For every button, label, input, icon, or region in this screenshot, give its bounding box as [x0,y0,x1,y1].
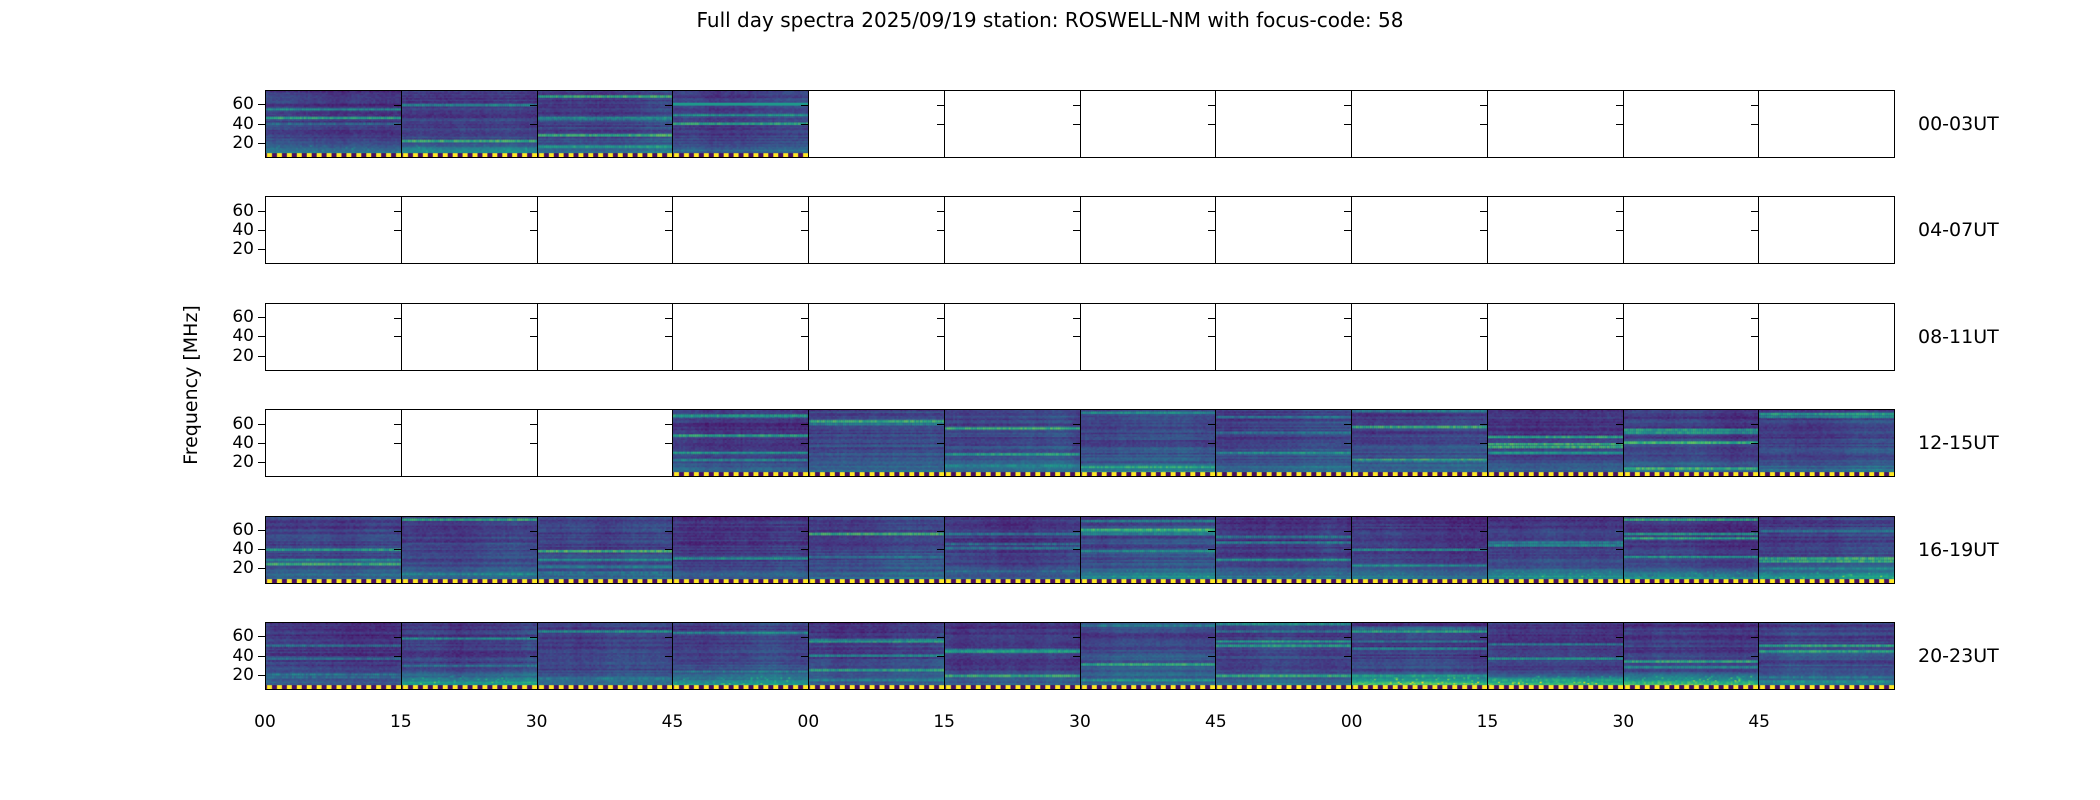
empty-cell [538,197,674,263]
y-tick-mark [1616,336,1623,337]
y-tick-label: 40 [232,433,254,453]
y-tick-mark [801,637,808,638]
y-tick-mark [1344,318,1351,319]
y-tick-mark [1073,656,1080,657]
y-tick-mark [937,424,944,425]
panel-cells [265,196,1895,264]
spectrogram-cell [402,623,538,689]
y-tick-mark [1480,230,1487,231]
y-tick-mark [937,105,944,106]
y-tick-mark [394,637,401,638]
spectrogram-cell [945,410,1081,476]
spectrogram-image [1081,623,1216,689]
spectrogram-image [1488,410,1623,476]
panel-cells [265,409,1895,477]
y-tick-mark [937,230,944,231]
panel-row: 204060 [265,622,1895,690]
y-tick-mark [1073,124,1080,125]
y-tick-mark [530,336,537,337]
y-tick-mark [801,424,808,425]
y-tick-mark [1208,443,1215,444]
spectrogram-cell [1488,623,1624,689]
y-tick-mark [530,105,537,106]
y-tick-mark [1344,549,1351,550]
y-tick-mark [394,531,401,532]
x-tick-label: 15 [933,712,955,732]
y-tick-label: 40 [232,646,254,666]
spectrogram-image [1352,410,1487,476]
y-tick-mark [258,675,265,676]
spectrogram-cell [673,517,809,583]
y-tick-mark [665,549,672,550]
x-tick-label: 00 [798,712,820,732]
y-tick-mark [801,105,808,106]
x-tick-label: 00 [254,712,276,732]
y-tick-mark [1344,656,1351,657]
y-tick-mark [1751,531,1758,532]
y-tick-mark [937,656,944,657]
y-tick-mark [258,424,265,425]
x-tick-label: 45 [662,712,684,732]
empty-cell [673,197,809,263]
spectrogram-cell [1488,517,1624,583]
y-tick-mark [801,336,808,337]
y-tick-mark [665,124,672,125]
spectrogram-cell [402,517,538,583]
spectrogram-image [1081,410,1216,476]
spectrogram-cell [1081,517,1217,583]
y-tick-mark [1616,656,1623,657]
y-tick-mark [665,656,672,657]
y-tick-mark [258,249,265,250]
empty-cell [266,304,402,370]
y-tick-mark [1751,424,1758,425]
y-tick-mark [665,105,672,106]
y-tick-mark [1073,336,1080,337]
spectrogram-cell [1216,410,1352,476]
y-tick-mark [394,549,401,550]
y-tick-mark [258,124,265,125]
spectrogram-image [538,91,673,157]
y-tick-mark [1616,230,1623,231]
y-tick-mark [1073,549,1080,550]
spectrogram-image [1352,623,1487,689]
y-tick-mark [530,637,537,638]
empty-cell [402,197,538,263]
y-tick-mark [530,443,537,444]
panel-row: 204060 [265,90,1895,158]
y-tick-mark [937,637,944,638]
x-tick-label: 00 [1341,712,1363,732]
y-tick-label: 60 [232,414,254,434]
y-tick-mark [258,462,265,463]
empty-cell [1759,197,1894,263]
empty-cell [1081,197,1217,263]
spectrogram-image [402,517,537,583]
y-tick-mark [1751,318,1758,319]
figure-title: Full day spectra 2025/09/19 station: ROS… [0,8,2100,32]
y-tick-mark [1480,318,1487,319]
empty-cell [945,91,1081,157]
spectrogram-cell [673,91,809,157]
spectrogram-image [673,91,808,157]
spectrogram-image [1352,517,1487,583]
empty-cell [402,410,538,476]
empty-cell [809,91,945,157]
spectrogram-cell [1759,623,1894,689]
spectrogram-cell [1624,410,1760,476]
spectrogram-cell [945,517,1081,583]
panel-row: 204060 [265,516,1895,584]
spectrogram-image [266,517,401,583]
spectrogram-image [1759,623,1894,689]
spectrogram-cell [266,517,402,583]
spectrogram-cell [1352,410,1488,476]
y-tick-label: 40 [232,326,254,346]
y-tick-mark [1616,531,1623,532]
empty-cell [1759,91,1894,157]
y-tick-mark [1208,230,1215,231]
spectrogram-cell [402,91,538,157]
empty-cell [538,410,674,476]
y-tick-mark [801,124,808,125]
y-tick-mark [801,656,808,657]
y-tick-mark [937,531,944,532]
spectrogram-cell [809,623,945,689]
panel-row: 204060 [265,409,1895,477]
row-time-label: 04-07UT [1918,219,1999,241]
y-tick-mark [394,124,401,125]
y-tick-mark [258,356,265,357]
y-tick-mark [1208,124,1215,125]
spectrogram-cell [809,410,945,476]
spectrogram-cell [1624,623,1760,689]
spectrogram-cell [1216,517,1352,583]
y-tick-mark [1344,105,1351,106]
empty-cell [1352,91,1488,157]
x-tick-label: 30 [526,712,548,732]
empty-cell [1488,197,1624,263]
y-axis-label: Frequency [MHz] [180,305,202,465]
empty-cell [402,304,538,370]
empty-cell [1216,197,1352,263]
y-tick-mark [665,424,672,425]
row-time-label: 00-03UT [1918,113,1999,135]
y-tick-mark [1208,656,1215,657]
spectrogram-image [1216,517,1351,583]
y-tick-mark [801,531,808,532]
y-tick-mark [1480,424,1487,425]
spectrogram-image [266,91,401,157]
spectrogram-figure: Full day spectra 2025/09/19 station: ROS… [0,0,2100,800]
y-tick-mark [530,211,537,212]
y-tick-label: 60 [232,94,254,114]
y-tick-mark [530,531,537,532]
y-tick-mark [801,211,808,212]
empty-cell [538,304,674,370]
y-tick-mark [801,318,808,319]
y-tick-mark [1073,424,1080,425]
spectrogram-image [1081,517,1216,583]
spectrogram-cell [1488,410,1624,476]
y-tick-mark [1616,443,1623,444]
empty-cell [1352,304,1488,370]
spectrogram-cell [1081,623,1217,689]
y-tick-mark [1073,211,1080,212]
y-tick-mark [937,124,944,125]
y-tick-mark [1616,549,1623,550]
y-tick-mark [258,656,265,657]
y-tick-mark [1073,637,1080,638]
y-tick-mark [394,656,401,657]
y-tick-mark [665,211,672,212]
y-tick-mark [1751,230,1758,231]
y-tick-mark [1616,124,1623,125]
empty-cell [266,410,402,476]
y-tick-mark [1751,443,1758,444]
y-tick-label: 40 [232,114,254,134]
empty-cell [1081,304,1217,370]
y-tick-mark [394,336,401,337]
y-tick-mark [1480,124,1487,125]
spectrogram-image [1216,410,1351,476]
y-tick-label: 20 [232,239,254,259]
y-tick-mark [1073,531,1080,532]
y-tick-label: 20 [232,452,254,472]
spectrogram-image [673,623,808,689]
y-tick-label: 60 [232,520,254,540]
spectrogram-image [673,517,808,583]
spectrogram-image [1624,410,1759,476]
x-tick-label: 30 [1069,712,1091,732]
spectrogram-image [1759,517,1894,583]
empty-cell [1216,91,1352,157]
y-tick-mark [530,656,537,657]
y-tick-mark [1344,443,1351,444]
empty-cell [1488,91,1624,157]
spectrogram-cell [809,517,945,583]
row-time-label: 12-15UT [1918,432,1999,454]
y-tick-mark [1073,105,1080,106]
y-tick-mark [1208,637,1215,638]
spectrogram-image [945,623,1080,689]
x-tick-label: 15 [390,712,412,732]
y-tick-mark [665,318,672,319]
y-tick-mark [394,443,401,444]
y-tick-mark [530,549,537,550]
y-tick-mark [1751,105,1758,106]
x-tick-label: 30 [1613,712,1635,732]
y-tick-mark [665,336,672,337]
y-tick-mark [258,530,265,531]
y-tick-mark [1616,424,1623,425]
y-tick-mark [394,318,401,319]
spectrogram-image [538,517,673,583]
empty-cell [1624,91,1760,157]
spectrogram-image [1759,410,1894,476]
y-tick-mark [530,230,537,231]
y-tick-label: 40 [232,539,254,559]
y-tick-mark [1616,211,1623,212]
y-tick-mark [1480,443,1487,444]
y-tick-mark [1616,318,1623,319]
y-tick-mark [258,443,265,444]
y-tick-mark [1344,424,1351,425]
y-tick-mark [801,549,808,550]
x-tick-label: 45 [1748,712,1770,732]
spectrogram-image [1216,623,1351,689]
y-tick-mark [1480,211,1487,212]
empty-cell [673,304,809,370]
empty-cell [809,197,945,263]
y-tick-mark [1480,531,1487,532]
spectrogram-cell [1759,517,1894,583]
panel-row: 204060 [265,196,1895,264]
spectrogram-cell [1216,623,1352,689]
y-tick-mark [258,143,265,144]
y-tick-label: 20 [232,665,254,685]
y-tick-mark [1751,211,1758,212]
spectrogram-image [673,410,808,476]
spectrogram-image [809,410,944,476]
spectrogram-image [809,517,944,583]
spectrogram-cell [538,91,674,157]
x-tick-label: 15 [1477,712,1499,732]
empty-cell [945,197,1081,263]
spectrogram-image [1624,623,1759,689]
y-tick-label: 40 [232,220,254,240]
y-tick-mark [258,211,265,212]
y-tick-mark [258,549,265,550]
y-tick-mark [937,443,944,444]
y-tick-label: 60 [232,626,254,646]
y-tick-mark [1208,531,1215,532]
spectrogram-image [945,517,1080,583]
spectrogram-cell [1624,517,1760,583]
panel-cells [265,303,1895,371]
empty-cell [266,197,402,263]
y-tick-mark [937,318,944,319]
spectrogram-cell [538,517,674,583]
y-tick-mark [665,443,672,444]
spectrogram-image [538,623,673,689]
y-tick-mark [665,531,672,532]
panel-row: 204060 [265,303,1895,371]
y-tick-mark [1073,443,1080,444]
y-tick-mark [1480,637,1487,638]
y-tick-mark [1751,124,1758,125]
y-tick-mark [1616,105,1623,106]
y-tick-mark [258,317,265,318]
y-tick-mark [1344,531,1351,532]
empty-cell [1216,304,1352,370]
empty-cell [1624,304,1760,370]
spectrogram-cell [538,623,674,689]
y-tick-mark [258,230,265,231]
y-tick-mark [258,104,265,105]
empty-cell [1624,197,1760,263]
x-axis: 001530450015304500153045 [265,712,1895,752]
y-tick-mark [1208,211,1215,212]
y-tick-label: 20 [232,133,254,153]
y-tick-mark [1616,637,1623,638]
panel-cells [265,90,1895,158]
y-tick-mark [801,443,808,444]
y-tick-mark [1751,336,1758,337]
y-tick-mark [1751,656,1758,657]
panel-cells [265,516,1895,584]
y-tick-label: 20 [232,346,254,366]
row-time-label: 20-23UT [1918,645,1999,667]
spectrogram-cell [1352,623,1488,689]
empty-cell [1759,304,1894,370]
x-tick-label: 45 [1205,712,1227,732]
spectrogram-image [945,410,1080,476]
spectrogram-cell [1081,410,1217,476]
y-tick-mark [1208,318,1215,319]
y-tick-mark [394,230,401,231]
spectrogram-image [1488,517,1623,583]
y-tick-mark [1344,230,1351,231]
y-tick-mark [1208,424,1215,425]
y-tick-mark [1208,549,1215,550]
y-tick-mark [1073,318,1080,319]
spectrogram-cell [266,91,402,157]
y-tick-mark [394,105,401,106]
y-tick-mark [530,318,537,319]
y-tick-mark [258,636,265,637]
y-tick-mark [937,336,944,337]
empty-cell [1352,197,1488,263]
y-tick-mark [665,230,672,231]
spectrogram-image [266,623,401,689]
y-tick-mark [530,424,537,425]
y-tick-mark [1480,656,1487,657]
y-tick-mark [1344,124,1351,125]
y-tick-mark [394,211,401,212]
y-tick-mark [258,568,265,569]
spectrogram-image [402,91,537,157]
y-tick-mark [1208,105,1215,106]
spectrogram-cell [266,623,402,689]
spectrogram-cell [673,410,809,476]
y-tick-mark [530,124,537,125]
y-tick-mark [258,336,265,337]
spectrogram-image [402,623,537,689]
y-tick-mark [1073,230,1080,231]
spectrogram-cell [1759,410,1894,476]
y-tick-mark [1208,336,1215,337]
spectrogram-image [809,623,944,689]
empty-cell [1081,91,1217,157]
spectrogram-cell [1352,517,1488,583]
row-time-label: 08-11UT [1918,326,1999,348]
y-tick-mark [1480,549,1487,550]
spectrogram-image [1624,517,1759,583]
y-tick-mark [937,211,944,212]
y-tick-label: 60 [232,307,254,327]
y-tick-mark [1344,336,1351,337]
spectrogram-cell [945,623,1081,689]
y-tick-label: 60 [232,201,254,221]
y-tick-mark [1480,105,1487,106]
y-tick-mark [1751,549,1758,550]
y-tick-mark [801,230,808,231]
y-tick-mark [1480,336,1487,337]
spectrogram-cell [673,623,809,689]
y-tick-mark [1751,637,1758,638]
y-tick-mark [394,424,401,425]
